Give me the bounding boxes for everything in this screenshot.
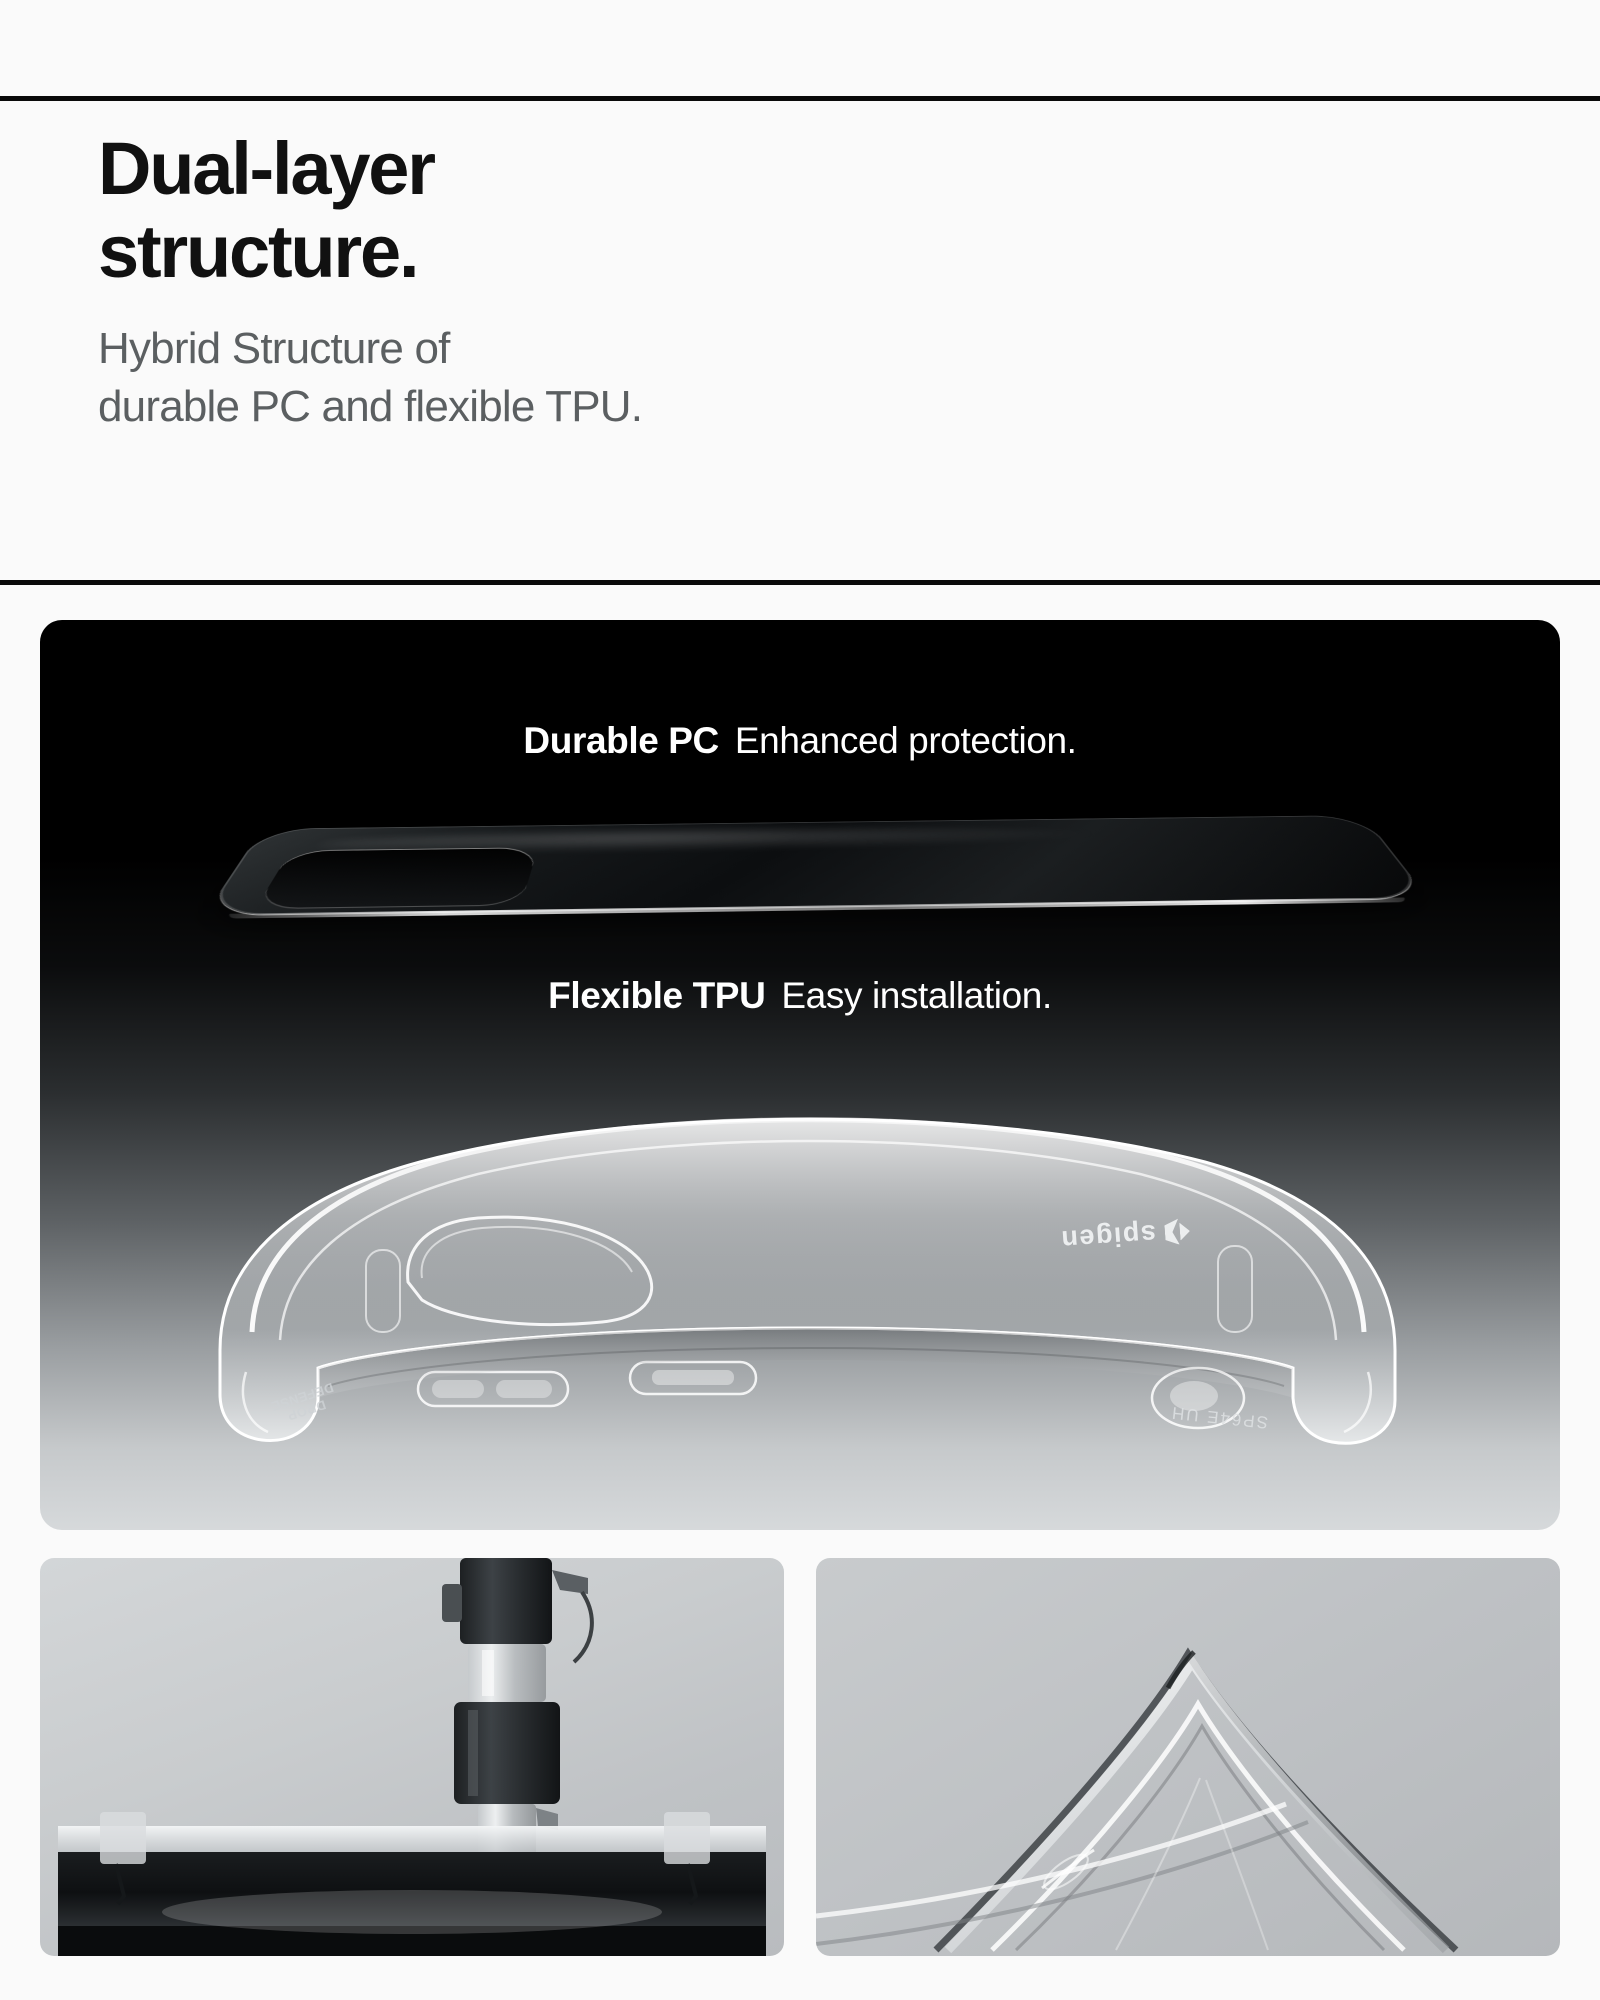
heading-block: Dual-layer structure. Hybrid Structure o… [98,128,1078,436]
pc-back-plate-illustration [204,815,1428,915]
cnc-collet-highlight [482,1650,494,1696]
gallery-row [40,1558,1560,1956]
spigen-glyph-icon [1163,1218,1191,1246]
hero-panel: Durable PCEnhanced protection. Flexible … [40,620,1560,1530]
cnc-clamp-right [664,1812,710,1864]
gallery-panel-cnc-machining[interactable] [40,1558,784,1956]
tpu-bumper-svg [160,1050,1450,1470]
divider-bottom [0,580,1600,585]
cnc-knurled-ring [442,1584,462,1622]
page-title: Dual-layer structure. [98,128,1078,294]
cnc-bed-reflection [162,1890,662,1934]
divider-top [0,96,1600,101]
cnc-glass-sheet [58,1826,766,1852]
tpu-speaker-grille [652,1370,734,1385]
label-durable-pc: Durable PCEnhanced protection. [40,720,1560,762]
case-outer-edge-dark [936,1654,1456,1950]
page-subtitle: Hybrid Structure of durable PC and flexi… [98,294,1078,436]
tpu-volume-button-down [496,1380,552,1398]
label-flexible-tpu-term: Flexible TPU [548,975,765,1016]
label-durable-pc-desc: Enhanced protection. [735,720,1077,761]
cnc-clamp-left [100,1812,146,1864]
tpu-volume-button-up [432,1380,484,1398]
label-flexible-tpu: Flexible TPUEasy installation. [40,975,1560,1017]
cnc-motor-highlight [468,1710,478,1796]
tpu-bumper-illustration: spigen SP64E UH DROP DEFENSE [160,1050,1450,1470]
case-inner-wall-shadow [1016,1726,1384,1950]
label-flexible-tpu-desc: Easy installation. [781,975,1051,1016]
product-feature-page: Dual-layer structure. Hybrid Structure o… [0,0,1600,2000]
case-cross-member-top [816,1804,1286,1916]
case-corner-illustration [816,1558,1560,1956]
label-durable-pc-term: Durable PC [523,720,718,761]
gallery-panel-case-corner[interactable] [816,1558,1560,1956]
cnc-spindle-barrel [460,1558,552,1644]
case-corner-svg [816,1558,1560,1956]
pc-plate-camera-cutout [255,847,538,909]
cnc-cable [574,1592,592,1662]
case-reflection-right [1206,1780,1268,1950]
cnc-bed-svg [40,1786,784,1956]
case-cross-member-bottom [816,1822,1308,1944]
cnc-bracket [552,1570,588,1594]
cnc-collet-housing [468,1644,546,1702]
